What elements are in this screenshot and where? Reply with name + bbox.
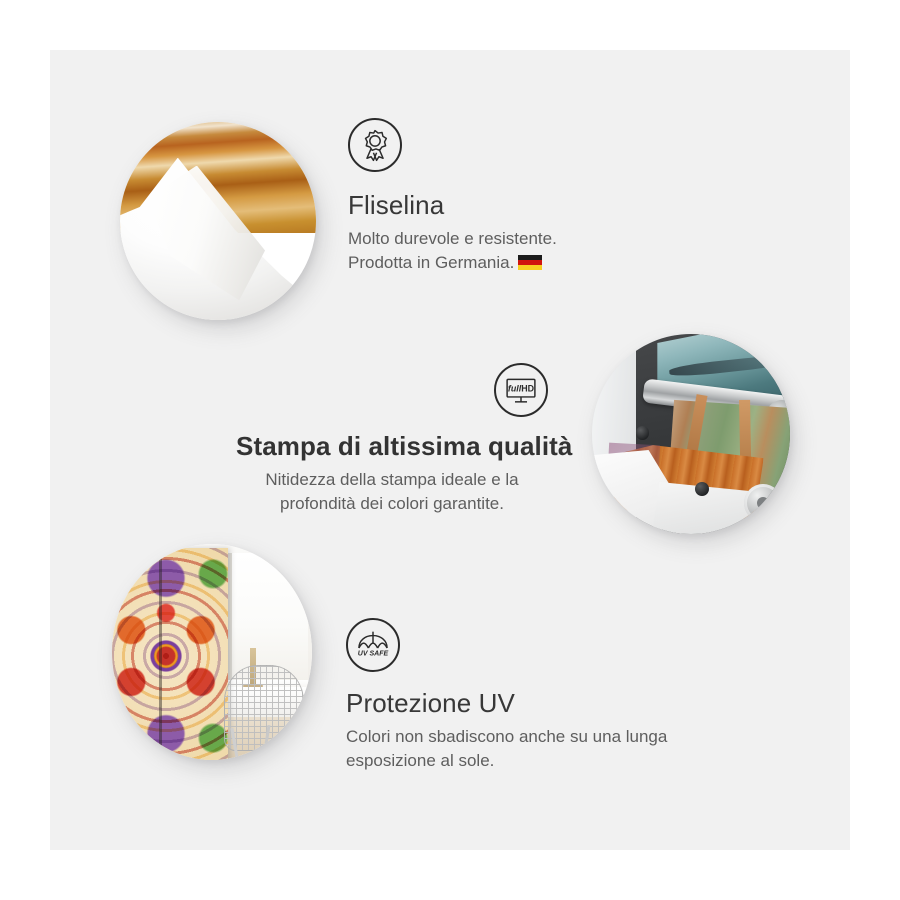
svg-text:UV SAFE: UV SAFE bbox=[358, 651, 389, 658]
printer-art bbox=[592, 334, 790, 534]
wallpaper-peeling-corner-photo bbox=[120, 122, 316, 320]
germany-flag-icon bbox=[518, 255, 542, 270]
fullhd-monitor-icon: fullHD bbox=[494, 363, 548, 417]
feature-title: Stampa di altissima qualità bbox=[236, 431, 548, 462]
room-art bbox=[112, 544, 312, 760]
printer-knob-2 bbox=[695, 482, 709, 496]
mandala-wallpaper-room-photo bbox=[112, 544, 312, 760]
feature-title: Protezione UV bbox=[346, 688, 667, 719]
feature-body: Colori non sbadiscono anche su una lunga… bbox=[346, 725, 667, 773]
product-feature-infographic: Fliselina Molto durevole e resistente. P… bbox=[0, 0, 900, 900]
feature-uv-protection: UV SAFE Protezione UV Colori non sbadisc… bbox=[346, 618, 667, 773]
feature-body: Nitidezza della stampa ideale e la profo… bbox=[236, 468, 548, 516]
wallpaper-art bbox=[120, 122, 316, 320]
uv-safe-umbrella-icon: UV SAFE bbox=[346, 618, 400, 672]
award-ribbon-icon bbox=[348, 118, 402, 172]
feature-fliselina: Fliselina Molto durevole e resistente. P… bbox=[348, 118, 557, 275]
room-wire-chair bbox=[224, 665, 304, 751]
feature-title: Fliselina bbox=[348, 190, 557, 221]
mandala-wallpaper-panel bbox=[112, 548, 228, 760]
printing-machine-photo bbox=[592, 334, 790, 534]
feature-print-quality: fullHD Stampa di altissima qualità Nitid… bbox=[236, 363, 548, 516]
feature-body: Molto durevole e resistente. Prodotta in… bbox=[348, 227, 557, 275]
svg-text:fullHD: fullHD bbox=[508, 383, 535, 393]
